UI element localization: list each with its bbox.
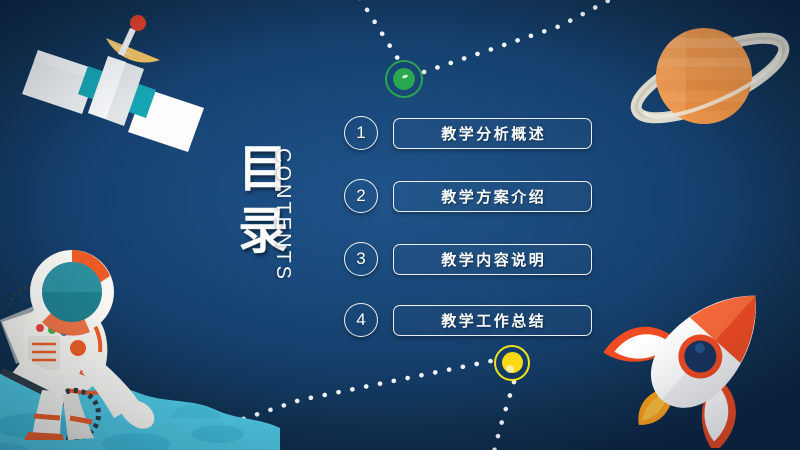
table-of-contents: 目 录 CONTENTS 1 教学分析概述 2 教学方案介绍 3 教学内容说明 [232,100,582,350]
page-subtitle: CONTENTS [271,148,294,288]
item-bar[interactable]: 教学分析概述 [393,118,592,149]
contents-slide: 目 录 CONTENTS 1 教学分析概述 2 教学方案介绍 3 教学内容说明 [0,0,800,450]
item-number: 2 [344,179,378,213]
item-number: 1 [344,116,378,150]
item-number: 4 [344,303,378,337]
list-item[interactable]: 1 教学分析概述 [344,112,592,154]
item-bar[interactable]: 教学工作总结 [393,305,592,336]
list-item[interactable]: 3 教学内容说明 [344,238,592,280]
list-item[interactable]: 2 教学方案介绍 [344,175,592,217]
item-label: 教学内容说明 [439,249,547,270]
item-bar[interactable]: 教学内容说明 [393,244,592,275]
item-number: 3 [344,242,378,276]
item-label: 教学工作总结 [439,310,547,331]
item-label: 教学分析概述 [439,123,547,144]
contents-list: 1 教学分析概述 2 教学方案介绍 3 教学内容说明 4 [344,100,592,350]
item-label: 教学方案介绍 [439,186,547,207]
list-item[interactable]: 4 教学工作总结 [344,299,592,341]
item-bar[interactable]: 教学方案介绍 [393,181,592,212]
